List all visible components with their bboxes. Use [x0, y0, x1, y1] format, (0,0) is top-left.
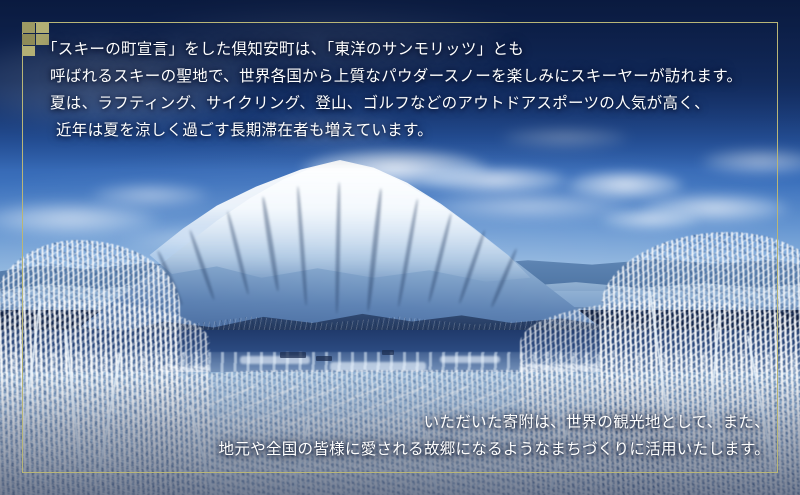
snow-field-patch [440, 356, 500, 363]
promo-banner: 「スキーの町宣言」をした倶知安町は、「東洋のサンモリッツ」とも 呼ばれるスキーの… [0, 0, 800, 495]
village-building [280, 352, 306, 358]
village-building [316, 356, 332, 361]
intro-line-4: 近年は夏を涼しく過ごす長期滞在者も増えています。 [42, 117, 772, 144]
cloud-icon [420, 168, 570, 194]
donation-line-1: いただいた寄附は、世界の観光地として、また、 [30, 409, 770, 436]
cloud-icon [565, 172, 685, 200]
village-building [382, 350, 394, 355]
cloud-icon [600, 210, 700, 230]
donation-statement: いただいた寄附は、世界の観光地として、また、 地元や全国の皆様に愛される故郷にな… [30, 409, 770, 463]
cloud-icon [90, 185, 210, 207]
cloud-icon [430, 196, 630, 218]
corner-square-icon [22, 34, 35, 45]
intro-paragraph: 「スキーの町宣言」をした倶知安町は、「東洋のサンモリッツ」とも 呼ばれるスキーの… [42, 36, 772, 144]
corner-square-icon [22, 46, 35, 56]
donation-line-2: 地元や全国の皆様に愛される故郷になるようなまちづくりに活用いたします。 [30, 436, 770, 463]
intro-line-2: 呼ばれるスキーの聖地で、世界各国から上質なパウダースノーを楽しみにスキーヤーが訪… [42, 63, 772, 90]
corner-square-icon [36, 22, 49, 33]
corner-square-icon [22, 22, 35, 33]
intro-line-3: 夏は、ラフティング、サイクリング、登山、ゴルフなどのアウトドアスポーツの人気が高… [42, 90, 772, 117]
intro-line-1: 「スキーの町宣言」をした倶知安町は、「東洋のサンモリッツ」とも [42, 36, 772, 63]
